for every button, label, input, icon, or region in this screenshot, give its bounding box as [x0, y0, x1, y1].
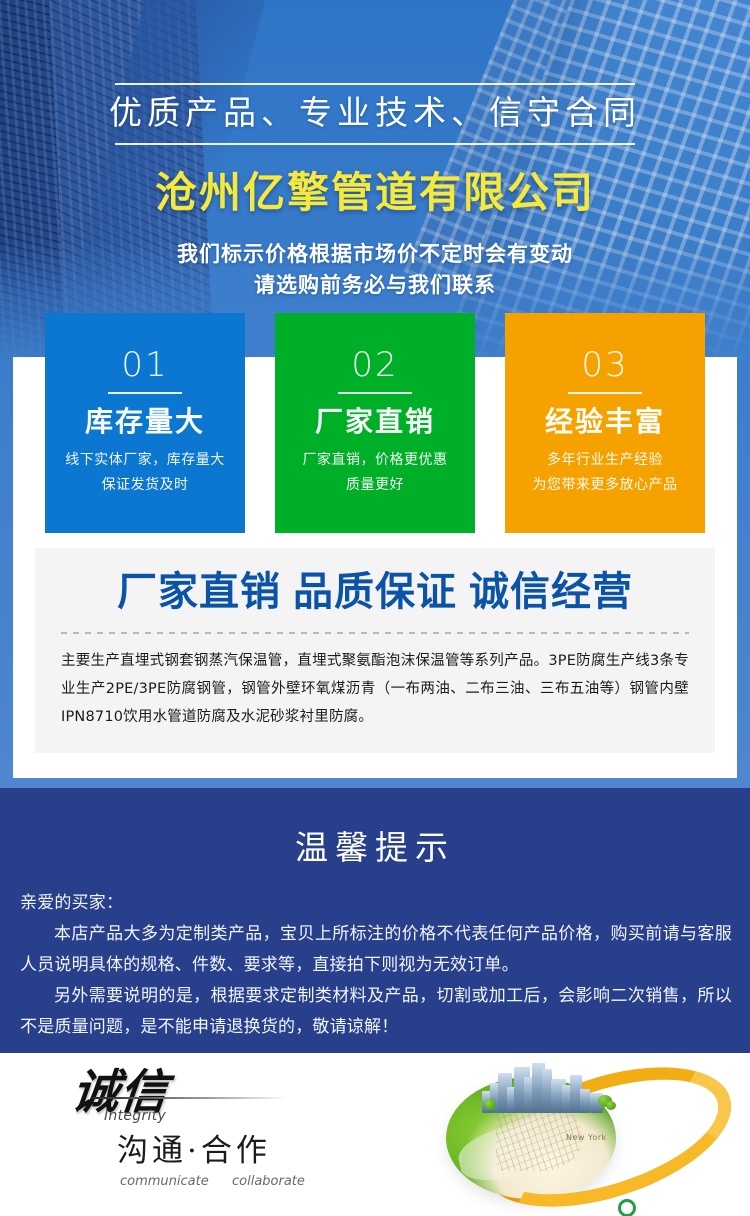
footer-rule: [92, 1097, 287, 1099]
tips-greeting: 亲爱的买家：: [20, 888, 732, 919]
feature-divider: [338, 392, 412, 394]
tips-body: 亲爱的买家： 本店产品大多为定制类产品，宝贝上所标注的价格不代表任何产品价格，购…: [0, 871, 750, 1043]
dotted-divider: [61, 632, 689, 634]
tips-title: 温馨提示: [0, 788, 750, 871]
feature-box-01: 01 库存量大 线下实体厂家，库存量大 保证发货及时: [45, 313, 245, 533]
feature-subtitle-line-2: 保证发货及时: [45, 473, 245, 498]
collaborate-en-text: collaborate: [232, 1174, 305, 1189]
integrity-en-text: Integrity: [104, 1108, 166, 1124]
company-name: 沧州亿擎管道有限公司: [0, 163, 750, 223]
slogan-part-2: 品质保证: [293, 569, 457, 615]
price-note-line-2: 请选购前务必与我们联系: [0, 270, 750, 301]
feature-box-03: 03 经验丰富 多年行业生产经验 为您带来更多放心产品: [505, 313, 705, 533]
product-detail-page: 优质产品、专业技术、信守合同 沧州亿擎管道有限公司 我们标示价格根据市场价不定时…: [0, 0, 750, 1216]
tips-section: 温馨提示 亲爱的买家： 本店产品大多为定制类产品，宝贝上所标注的价格不代表任何产…: [0, 788, 750, 1053]
feature-title: 库存量大: [45, 402, 245, 442]
feature-box-list: 01 库存量大 线下实体厂家，库存量大 保证发货及时 02 厂家直销 厂家直销，…: [45, 313, 705, 533]
orbit-ring-dot-icon: [618, 1199, 636, 1216]
globe-graphic: New York: [418, 1053, 750, 1216]
feature-number: 03: [505, 345, 705, 385]
footer-banner: 诚信 Integrity 沟通·合作 communicate collabora…: [0, 1053, 750, 1216]
tips-paragraph-1: 本店产品大多为定制类产品，宝贝上所标注的价格不代表任何产品价格，购买前请与客服人…: [20, 919, 732, 981]
feature-title: 经验丰富: [505, 402, 705, 442]
feature-subtitle-line-2: 为您带来更多放心产品: [505, 473, 705, 498]
feature-divider: [568, 392, 642, 394]
feature-number: 01: [45, 345, 245, 385]
feature-subtitle-line-2: 质量更好: [275, 473, 475, 498]
slogan-part-1: 厂家直销: [117, 569, 281, 615]
feature-subtitle-line-1: 多年行业生产经验: [505, 448, 705, 473]
price-note-line-1: 我们标示价格根据市场价不定时会有变动: [0, 239, 750, 270]
slogan-panel: 厂家直销品质保证诚信经营 主要生产直埋式钢套钢蒸汽保温管，直埋式聚氨酯泡沫保温管…: [35, 548, 715, 753]
communicate-en-text: communicate: [120, 1174, 209, 1189]
feature-number: 02: [275, 345, 475, 385]
hero-tagline: 优质产品、专业技术、信守合同: [95, 85, 655, 138]
hero-divider-bottom: [115, 143, 635, 145]
company-description: 主要生产直埋式钢套钢蒸汽保温管，直埋式聚氨酯泡沫保温管等系列产品。3PE防腐生产…: [61, 647, 689, 731]
tips-paragraph-2: 另外需要说明的是，根据要求定制类材料及产品，切割或加工后，会影响二次销售，所以不…: [20, 981, 732, 1043]
feature-box-02: 02 厂家直销 厂家直销，价格更优惠 质量更好: [275, 313, 475, 533]
feature-subtitle-line-1: 线下实体厂家，库存量大: [45, 448, 245, 473]
feature-title: 厂家直销: [275, 402, 475, 442]
slogan-headline: 厂家直销品质保证诚信经营: [61, 564, 689, 620]
feature-divider: [108, 392, 182, 394]
feature-subtitle-line-1: 厂家直销，价格更优惠: [275, 448, 475, 473]
slogan-part-3: 诚信经营: [469, 569, 633, 615]
hero-content: 优质产品、专业技术、信守合同 沧州亿擎管道有限公司 我们标示价格根据市场价不定时…: [0, 83, 750, 301]
communicate-collaborate-cn-text: 沟通·合作: [117, 1131, 271, 1171]
